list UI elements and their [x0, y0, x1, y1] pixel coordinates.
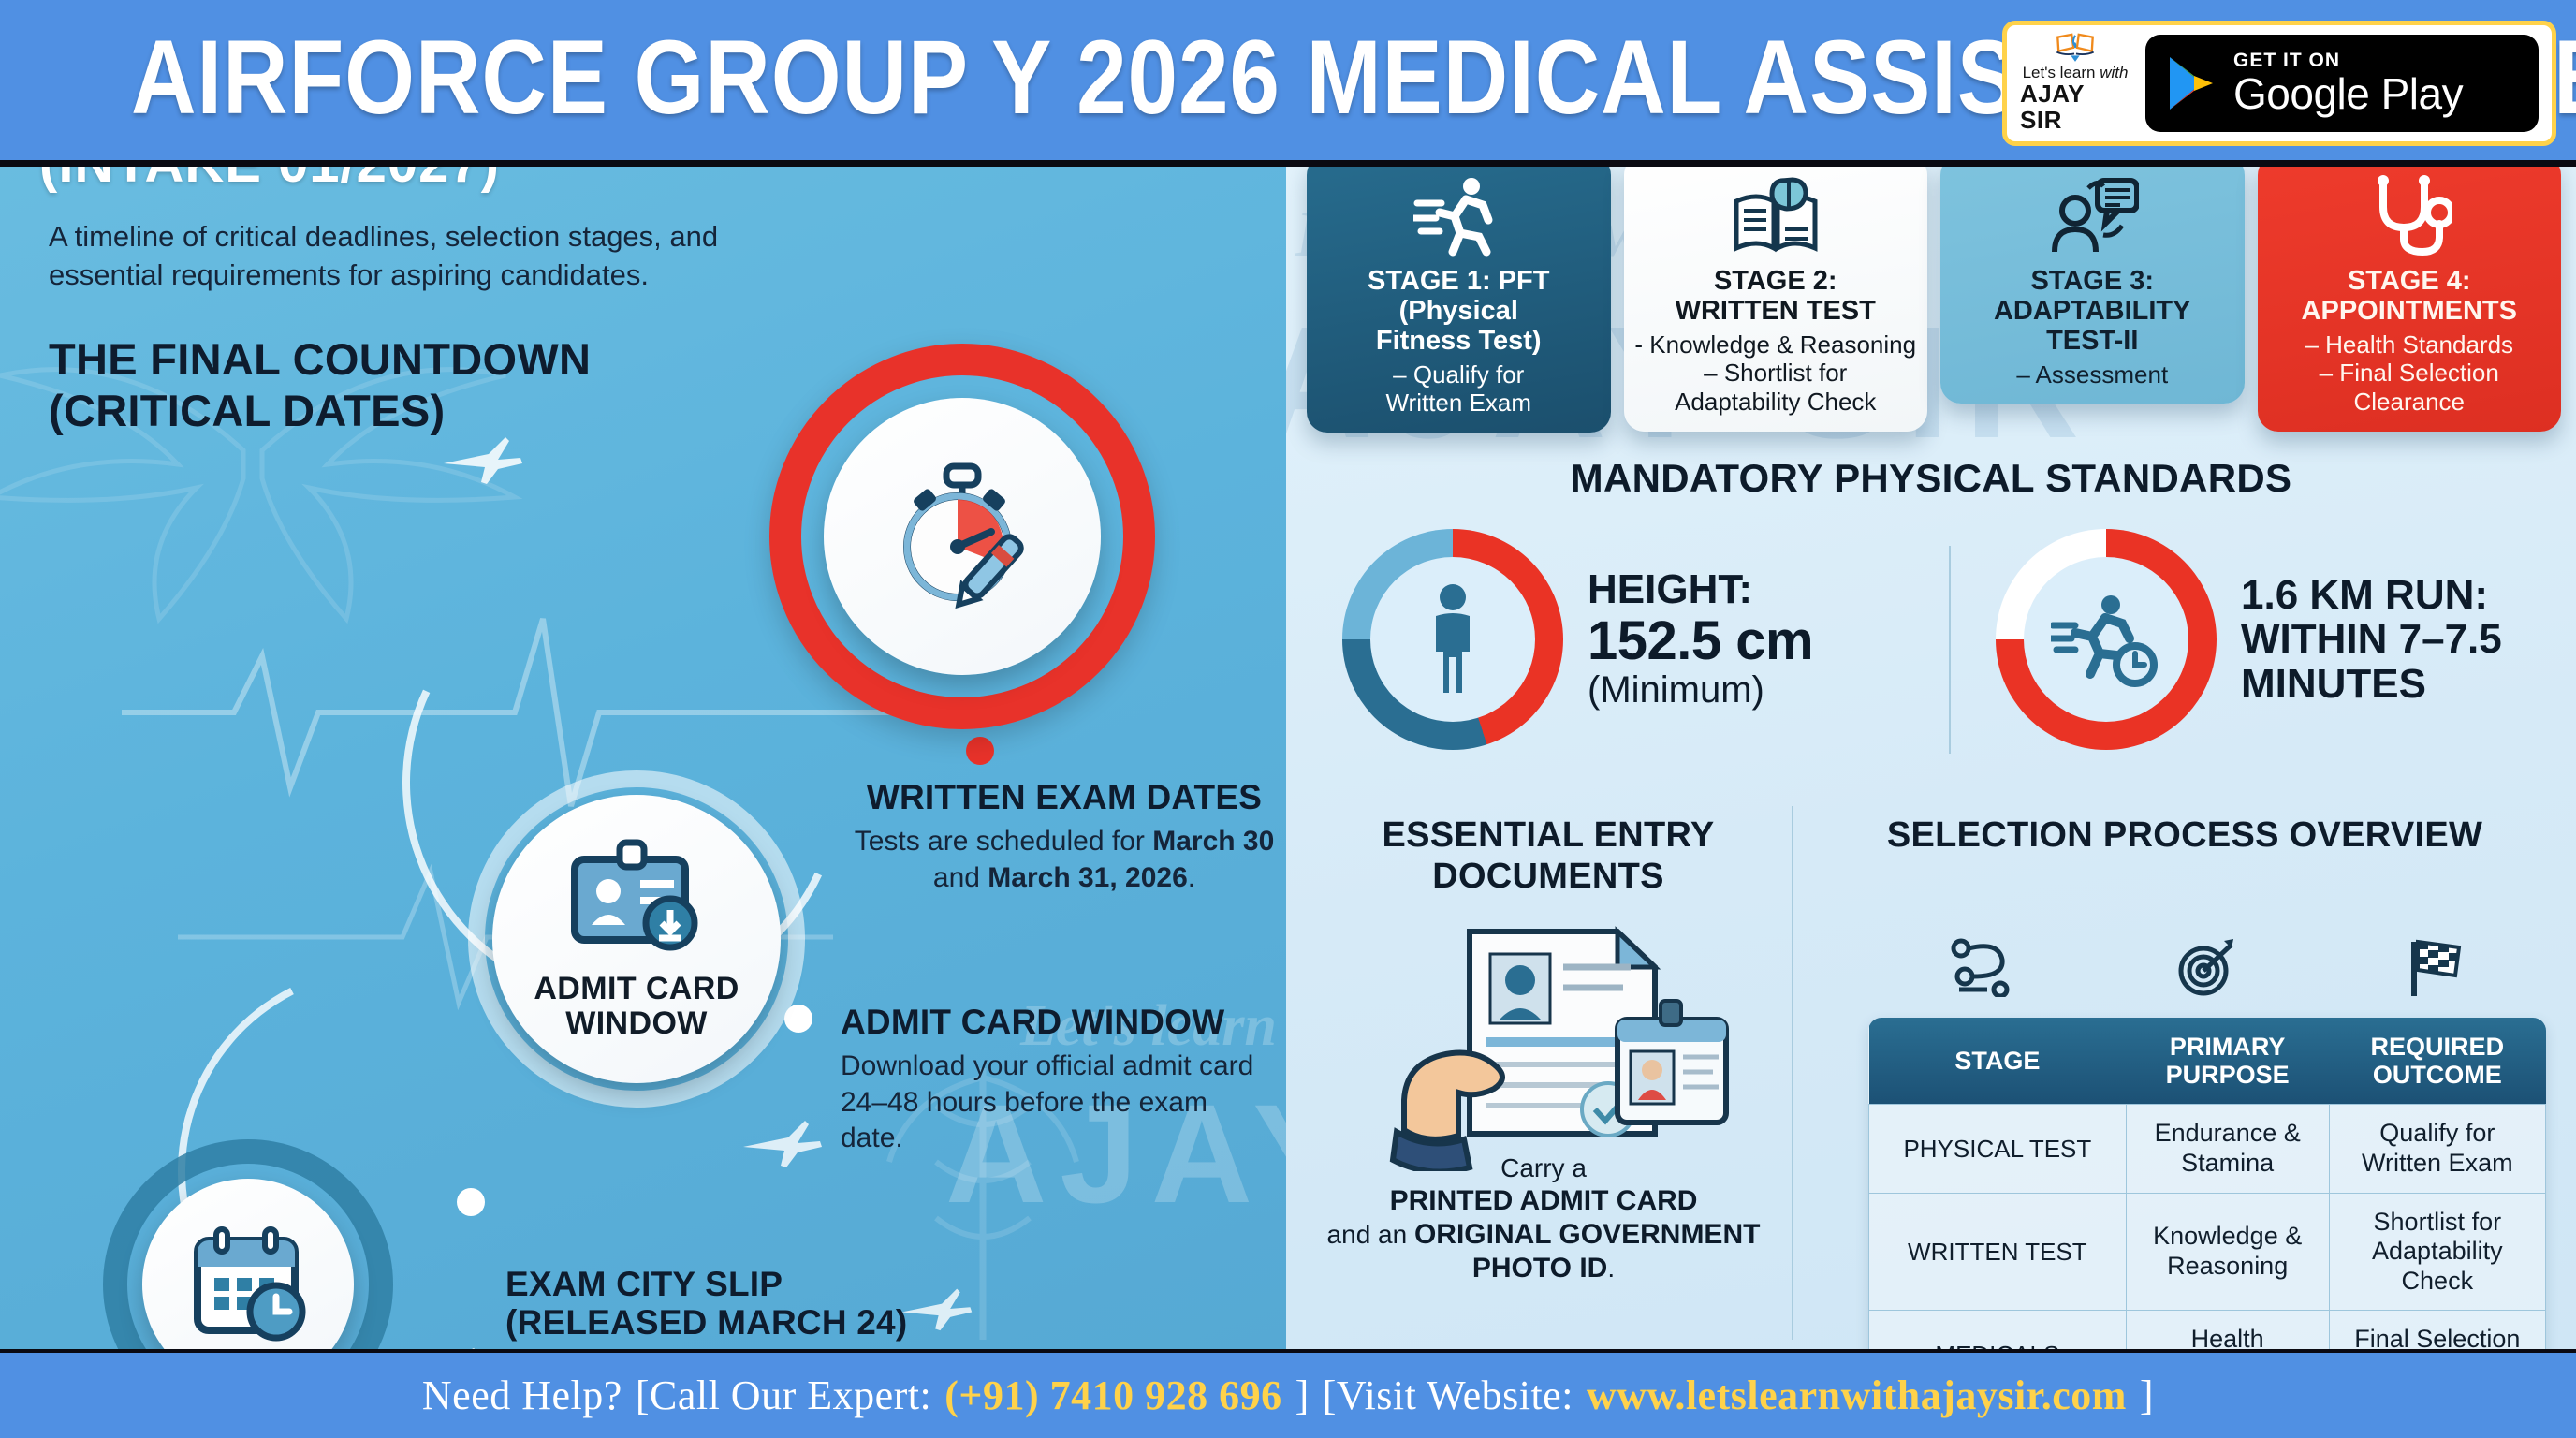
id-card-download-icon — [567, 837, 706, 959]
airplane-icon — [739, 1115, 824, 1171]
page-title: AIRFORCE GROUP Y 2026 MEDICAL ASSISTANT … — [131, 7, 1661, 148]
stage-card-4-appointments[interactable]: STAGE 4:APPOINTMENTS – Health Standards–… — [2258, 160, 2562, 432]
stage-desc: – Qualify forWritten Exam — [1385, 360, 1531, 418]
table-header-row: STAGE PRIMARYPURPOSE REQUIREDOUTCOME — [1869, 1018, 2546, 1105]
airplane-icon — [440, 432, 524, 488]
left-timeline-panel: Let's learn with AJAY SIR (INTAKE 01/202… — [0, 160, 1286, 1349]
node-admit-card-label: ADMIT CARDWINDOW — [534, 972, 739, 1042]
timeline-body: Download your official admit card 24–48 … — [841, 1049, 1262, 1156]
stage-card-1-pft[interactable]: STAGE 1: PFT(PhysicalFitness Test) – Qua… — [1307, 160, 1611, 433]
stage-desc: – Health Standards– Final SelectionClear… — [2305, 330, 2513, 417]
timeline-dot — [457, 1188, 485, 1216]
metric-divider — [1949, 546, 1951, 754]
ajay-sir-logo-icon: Let's learn with AJAY SIR — [2020, 33, 2130, 134]
footer-call-close: ] — [1295, 1372, 1310, 1419]
footer-need-help: Need Help? — [422, 1372, 622, 1419]
cell-outcome: Shortlist forAdaptability Check — [2329, 1193, 2545, 1311]
height-metric-text: HEIGHT: 152.5 cm (Minimum) — [1588, 567, 1813, 711]
stethoscope-icon — [2366, 168, 2452, 257]
metric-run: 1.6 KM RUN: WITHIN 7–7.5MINUTES — [1996, 529, 2502, 750]
footer-phone[interactable]: (+91) 7410 928 696 — [944, 1372, 1281, 1419]
documents-illustration — [1389, 900, 1735, 1176]
metric-label: HEIGHT: — [1588, 567, 1813, 612]
cell-stage: WRITTEN TEST — [1869, 1193, 2127, 1311]
node-inner — [824, 398, 1101, 675]
book-brain-icon — [1729, 168, 1822, 257]
run-donut-chart — [1996, 529, 2217, 750]
runner-icon — [1413, 168, 1503, 257]
footer-visit-close: ] — [2140, 1372, 2154, 1419]
timeline-text-city-slip: EXAM CITY SLIP(RELEASED MARCH 24) Check … — [505, 1265, 992, 1349]
physical-standards-heading: MANDATORY PHYSICAL STANDARDS — [1286, 456, 2576, 501]
selection-table-heading: SELECTION PROCESS OVERVIEW — [1810, 815, 2559, 856]
table-col-stage: STAGE — [1869, 1018, 2127, 1105]
page-footer: Need Help? [Call Our Expert: (+91) 7410 … — [0, 1349, 2576, 1438]
hand-documents-icon — [1389, 900, 1735, 1171]
process-flow-icon — [1948, 937, 2015, 997]
table-col-purpose: PRIMARYPURPOSE — [2126, 1018, 2329, 1105]
metric-label: 1.6 KM RUN: — [2241, 573, 2502, 618]
runner-stopwatch-icon — [1996, 529, 2217, 750]
timeline-node-admit-card[interactable]: ADMIT CARDWINDOW — [468, 770, 805, 1108]
stage-desc: - Knowledge & Reasoning– Shortlist forAd… — [1634, 330, 1916, 417]
timeline-heading: ADMIT CARD WINDOW — [841, 1003, 1262, 1041]
timeline-heading: WRITTEN EXAM DATES — [854, 778, 1275, 816]
metric-note: (Minimum) — [1588, 670, 1813, 711]
logo-name: AJAY SIR — [2020, 81, 2130, 134]
timeline-heading: EXAM CITY SLIP(RELEASED MARCH 24) — [505, 1265, 992, 1343]
gplay-big-label: Google Play — [2233, 71, 2463, 116]
left-section-heading: THE FINAL COUNTDOWN(CRITICAL DATES) — [49, 334, 798, 437]
metric-value: WITHIN 7–7.5MINUTES — [2241, 617, 2502, 706]
documents-heading: ESSENTIAL ENTRYDOCUMENTS — [1324, 815, 1773, 897]
documents-caption: Carry a PRINTED ADMIT CARD and an ORIGIN… — [1324, 1152, 1764, 1285]
cell-stage: PHYSICAL TEST — [1869, 1105, 2127, 1193]
metric-value: 152.5 cm — [1588, 612, 1813, 671]
timeline-text-written-exam: WRITTEN EXAM DATES Tests are scheduled f… — [854, 778, 1275, 896]
timeline-body: Tests are scheduled for March 30 and Mar… — [854, 824, 1275, 896]
stage-title: STAGE 2:WRITTEN TEST — [1676, 267, 1876, 327]
timeline-text-admit-card: ADMIT CARD WINDOW Download your official… — [841, 1003, 1262, 1157]
stage-card-2-written[interactable]: STAGE 2:WRITTEN TEST - Knowledge & Reaso… — [1624, 160, 1928, 432]
node-inner: ADMIT CARDWINDOW — [492, 795, 781, 1083]
footer-visit-label: [Visit Website: — [1323, 1372, 1573, 1419]
stage-desc: – Assessment — [2016, 360, 2168, 389]
person-standing-icon — [1342, 529, 1563, 750]
cell-purpose: Endurance &Stamina — [2126, 1105, 2329, 1193]
stage-title: STAGE 4:APPOINTMENTS — [2302, 267, 2517, 327]
checkered-flag-icon — [2399, 936, 2466, 998]
eagle-watermark-icon — [0, 263, 543, 656]
table-row: WRITTEN TEST Knowledge &Reasoning Shortl… — [1869, 1193, 2546, 1311]
stage-card-3-adaptability[interactable]: STAGE 3:ADAPTABILITYTEST-II – Assessment — [1940, 160, 2245, 404]
target-icon — [2175, 937, 2239, 997]
page-header: AIRFORCE GROUP Y 2026 MEDICAL ASSISTANT … — [0, 0, 2576, 167]
timeline-dot — [966, 737, 994, 765]
stage-title: STAGE 3:ADAPTABILITYTEST-II — [1994, 267, 2191, 357]
stopwatch-pencil-icon — [875, 449, 1049, 624]
table-col-outcome: REQUIREDOUTCOME — [2329, 1018, 2545, 1105]
table-column-icons — [1868, 936, 2546, 998]
google-play-badge[interactable]: GET IT ON Google Play — [2145, 35, 2539, 132]
table-row: PHYSICAL TEST Endurance &Stamina Qualify… — [1869, 1105, 2546, 1193]
stage-title: STAGE 1: PFT(PhysicalFitness Test) — [1368, 267, 1549, 357]
run-metric-text: 1.6 KM RUN: WITHIN 7–7.5MINUTES — [2241, 573, 2502, 707]
left-lead-paragraph: A timeline of critical deadlines, select… — [49, 218, 788, 295]
person-chat-icon — [2045, 168, 2139, 257]
brand-logo-box[interactable]: Let's learn with AJAY SIR GET IT ON Goog… — [2002, 21, 2556, 146]
timeline-node-written-exam[interactable] — [769, 344, 1155, 729]
logo-tagline: Let's learn with — [2023, 65, 2129, 81]
calendar-clock-icon — [186, 1225, 310, 1343]
height-donut-chart — [1342, 529, 1563, 750]
google-play-icon — [2166, 55, 2217, 111]
section-divider — [1792, 806, 1793, 1340]
footer-call-label: [Call Our Expert: — [636, 1372, 931, 1419]
gplay-small-label: GET IT ON — [2233, 51, 2463, 71]
cell-outcome: Qualify forWritten Exam — [2329, 1105, 2545, 1193]
stage-card-list: STAGE 1: PFT(PhysicalFitness Test) – Qua… — [1307, 160, 2561, 463]
footer-website-link[interactable]: www.letslearnwithajaysir.com — [1587, 1372, 2127, 1419]
metric-height: HEIGHT: 152.5 cm (Minimum) — [1342, 529, 1813, 750]
cell-purpose: Knowledge &Reasoning — [2126, 1193, 2329, 1311]
selection-process-table: STAGE PRIMARYPURPOSE REQUIREDOUTCOME PHY… — [1868, 1018, 2546, 1400]
timeline-node-exam-city-slip[interactable] — [103, 1139, 393, 1349]
